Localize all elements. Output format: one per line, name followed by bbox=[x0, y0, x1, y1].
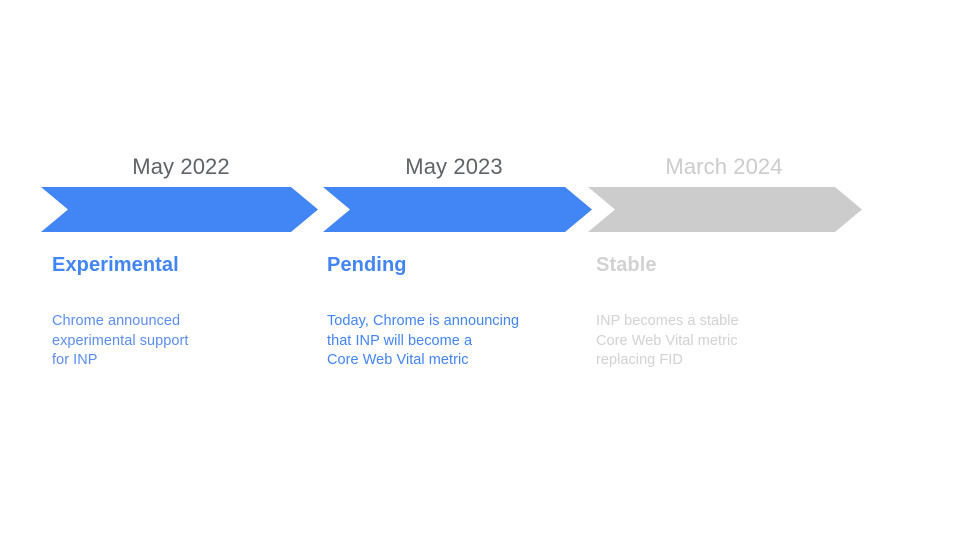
stage-status-heading: Stable bbox=[596, 252, 858, 278]
timeline-chevron-arrow bbox=[323, 187, 592, 232]
timeline-stage: Experimental Chrome announced experiment… bbox=[52, 252, 314, 278]
timeline-arrow-row bbox=[0, 187, 960, 233]
timeline-stage: Pending Today, Chrome is announcing that… bbox=[327, 252, 589, 278]
timeline-chevron-arrow bbox=[588, 187, 862, 232]
timeline-chevron-arrow bbox=[41, 187, 318, 232]
stage-description: Chrome announced experimental support fo… bbox=[52, 312, 188, 371]
stage-description: Today, Chrome is announcing that INP wil… bbox=[327, 312, 519, 371]
timeline-date-label: March 2024 bbox=[585, 152, 863, 182]
stage-status-heading: Pending bbox=[327, 252, 589, 278]
stage-description: INP becomes a stable Core Web Vital metr… bbox=[596, 312, 739, 371]
timeline-date-label: May 2023 bbox=[314, 152, 594, 182]
stage-status-heading: Experimental bbox=[52, 252, 314, 278]
timeline-date-label: May 2022 bbox=[41, 152, 321, 182]
timeline-stage: Stable INP becomes a stable Core Web Vit… bbox=[596, 252, 858, 278]
timeline-date-row: May 2022 May 2023 March 2024 bbox=[0, 152, 960, 182]
inp-timeline: May 2022 May 2023 March 2024 Experimenta… bbox=[0, 0, 960, 540]
